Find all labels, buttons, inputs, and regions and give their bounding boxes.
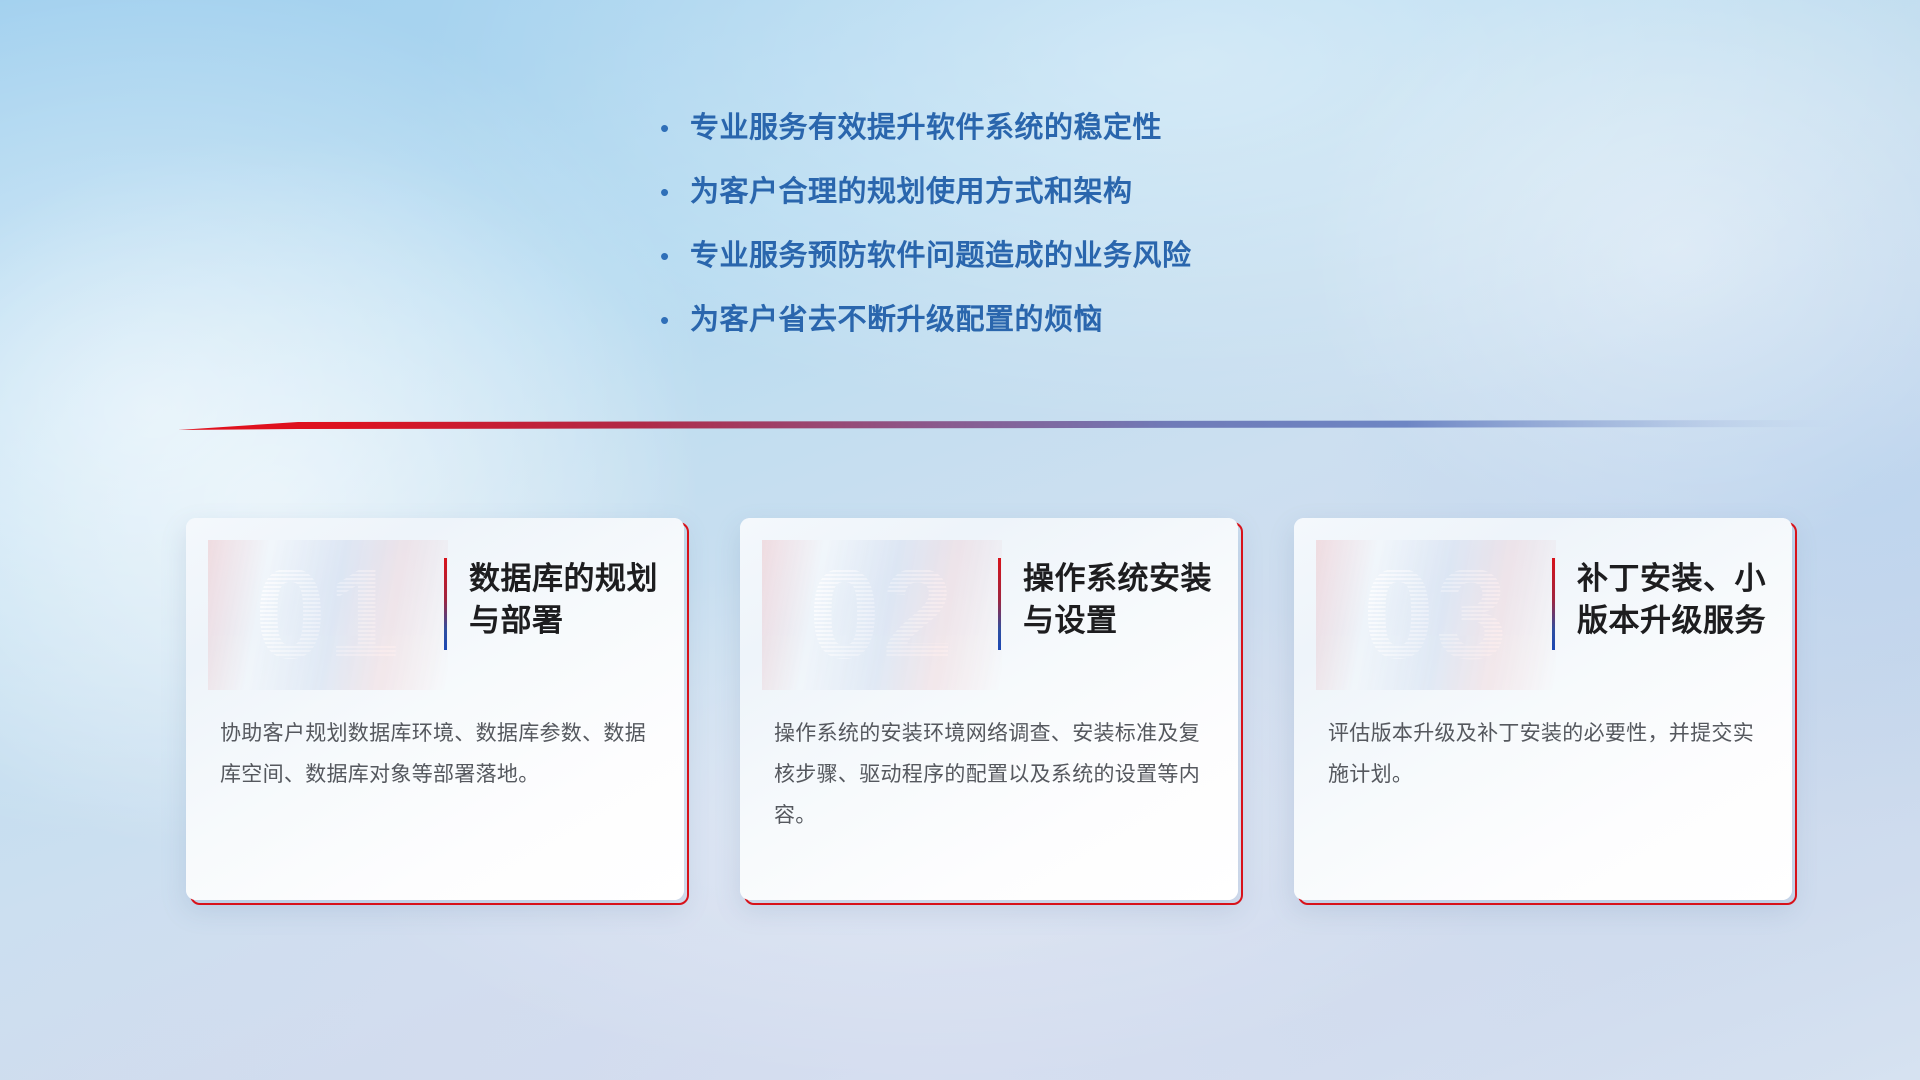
card-row: 01 数据库的规划与部署 协助客户规划数据库环境、数据库参数、数据库空间、数据库… — [186, 518, 1796, 918]
bullet-text: 为客户省去不断升级配置的烦恼 — [690, 296, 1103, 338]
card-body-text: 协助客户规划数据库环境、数据库参数、数据库空间、数据库对象等部署落地。 — [220, 714, 654, 796]
slide-canvas: • 专业服务有效提升软件系统的稳定性 • 为客户合理的规划使用方式和架构 • 专… — [0, 0, 1920, 1080]
card-number-watermark: 03 — [1316, 540, 1556, 690]
card-body-text: 评估版本升级及补丁安装的必要性，并提交实施计划。 — [1328, 714, 1762, 796]
card-title: 补丁安装、小版本升级服务 — [1577, 558, 1766, 650]
title-rule-divider — [998, 558, 1001, 650]
card-header: 操作系统安装与设置 — [998, 558, 1212, 650]
card-title: 数据库的规划与部署 — [469, 558, 658, 650]
card-number-watermark: 01 — [208, 540, 448, 690]
bullet-text: 专业服务预防软件问题造成的业务风险 — [690, 232, 1192, 274]
card-header: 数据库的规划与部署 — [444, 558, 658, 650]
service-card-02[interactable]: 02 操作系统安装与设置 操作系统的安装环境网络调查、安装标准及复核步骤、驱动程… — [740, 518, 1238, 900]
bullet-dot-icon: • — [660, 307, 690, 333]
divider-wedge-icon — [178, 418, 1838, 432]
title-rule-divider — [444, 558, 447, 650]
list-item: • 专业服务预防软件问题造成的业务风险 — [660, 232, 1560, 296]
service-card-03[interactable]: 03 补丁安装、小版本升级服务 评估版本升级及补丁安装的必要性，并提交实施计划。 — [1294, 518, 1792, 900]
bullet-text: 为客户合理的规划使用方式和架构 — [690, 168, 1133, 210]
card-surface: 03 补丁安装、小版本升级服务 评估版本升级及补丁安装的必要性，并提交实施计划。 — [1294, 518, 1792, 900]
title-rule-divider — [1552, 558, 1555, 650]
bullet-list: • 专业服务有效提升软件系统的稳定性 • 为客户合理的规划使用方式和架构 • 专… — [660, 104, 1560, 360]
bullet-dot-icon: • — [660, 243, 690, 269]
card-number-watermark: 02 — [762, 540, 1002, 690]
card-body-text: 操作系统的安装环境网络调查、安装标准及复核步骤、驱动程序的配置以及系统的设置等内… — [774, 714, 1208, 837]
bullet-text: 专业服务有效提升软件系统的稳定性 — [690, 104, 1162, 146]
section-divider — [178, 418, 1838, 432]
card-surface: 01 数据库的规划与部署 协助客户规划数据库环境、数据库参数、数据库空间、数据库… — [186, 518, 684, 900]
bullet-dot-icon: • — [660, 179, 690, 205]
card-surface: 02 操作系统安装与设置 操作系统的安装环境网络调查、安装标准及复核步骤、驱动程… — [740, 518, 1238, 900]
card-title: 操作系统安装与设置 — [1023, 558, 1212, 650]
bullet-dot-icon: • — [660, 115, 690, 141]
list-item: • 为客户省去不断升级配置的烦恼 — [660, 296, 1560, 360]
list-item: • 专业服务有效提升软件系统的稳定性 — [660, 104, 1560, 168]
card-header: 补丁安装、小版本升级服务 — [1552, 558, 1766, 650]
list-item: • 为客户合理的规划使用方式和架构 — [660, 168, 1560, 232]
service-card-01[interactable]: 01 数据库的规划与部署 协助客户规划数据库环境、数据库参数、数据库空间、数据库… — [186, 518, 684, 900]
